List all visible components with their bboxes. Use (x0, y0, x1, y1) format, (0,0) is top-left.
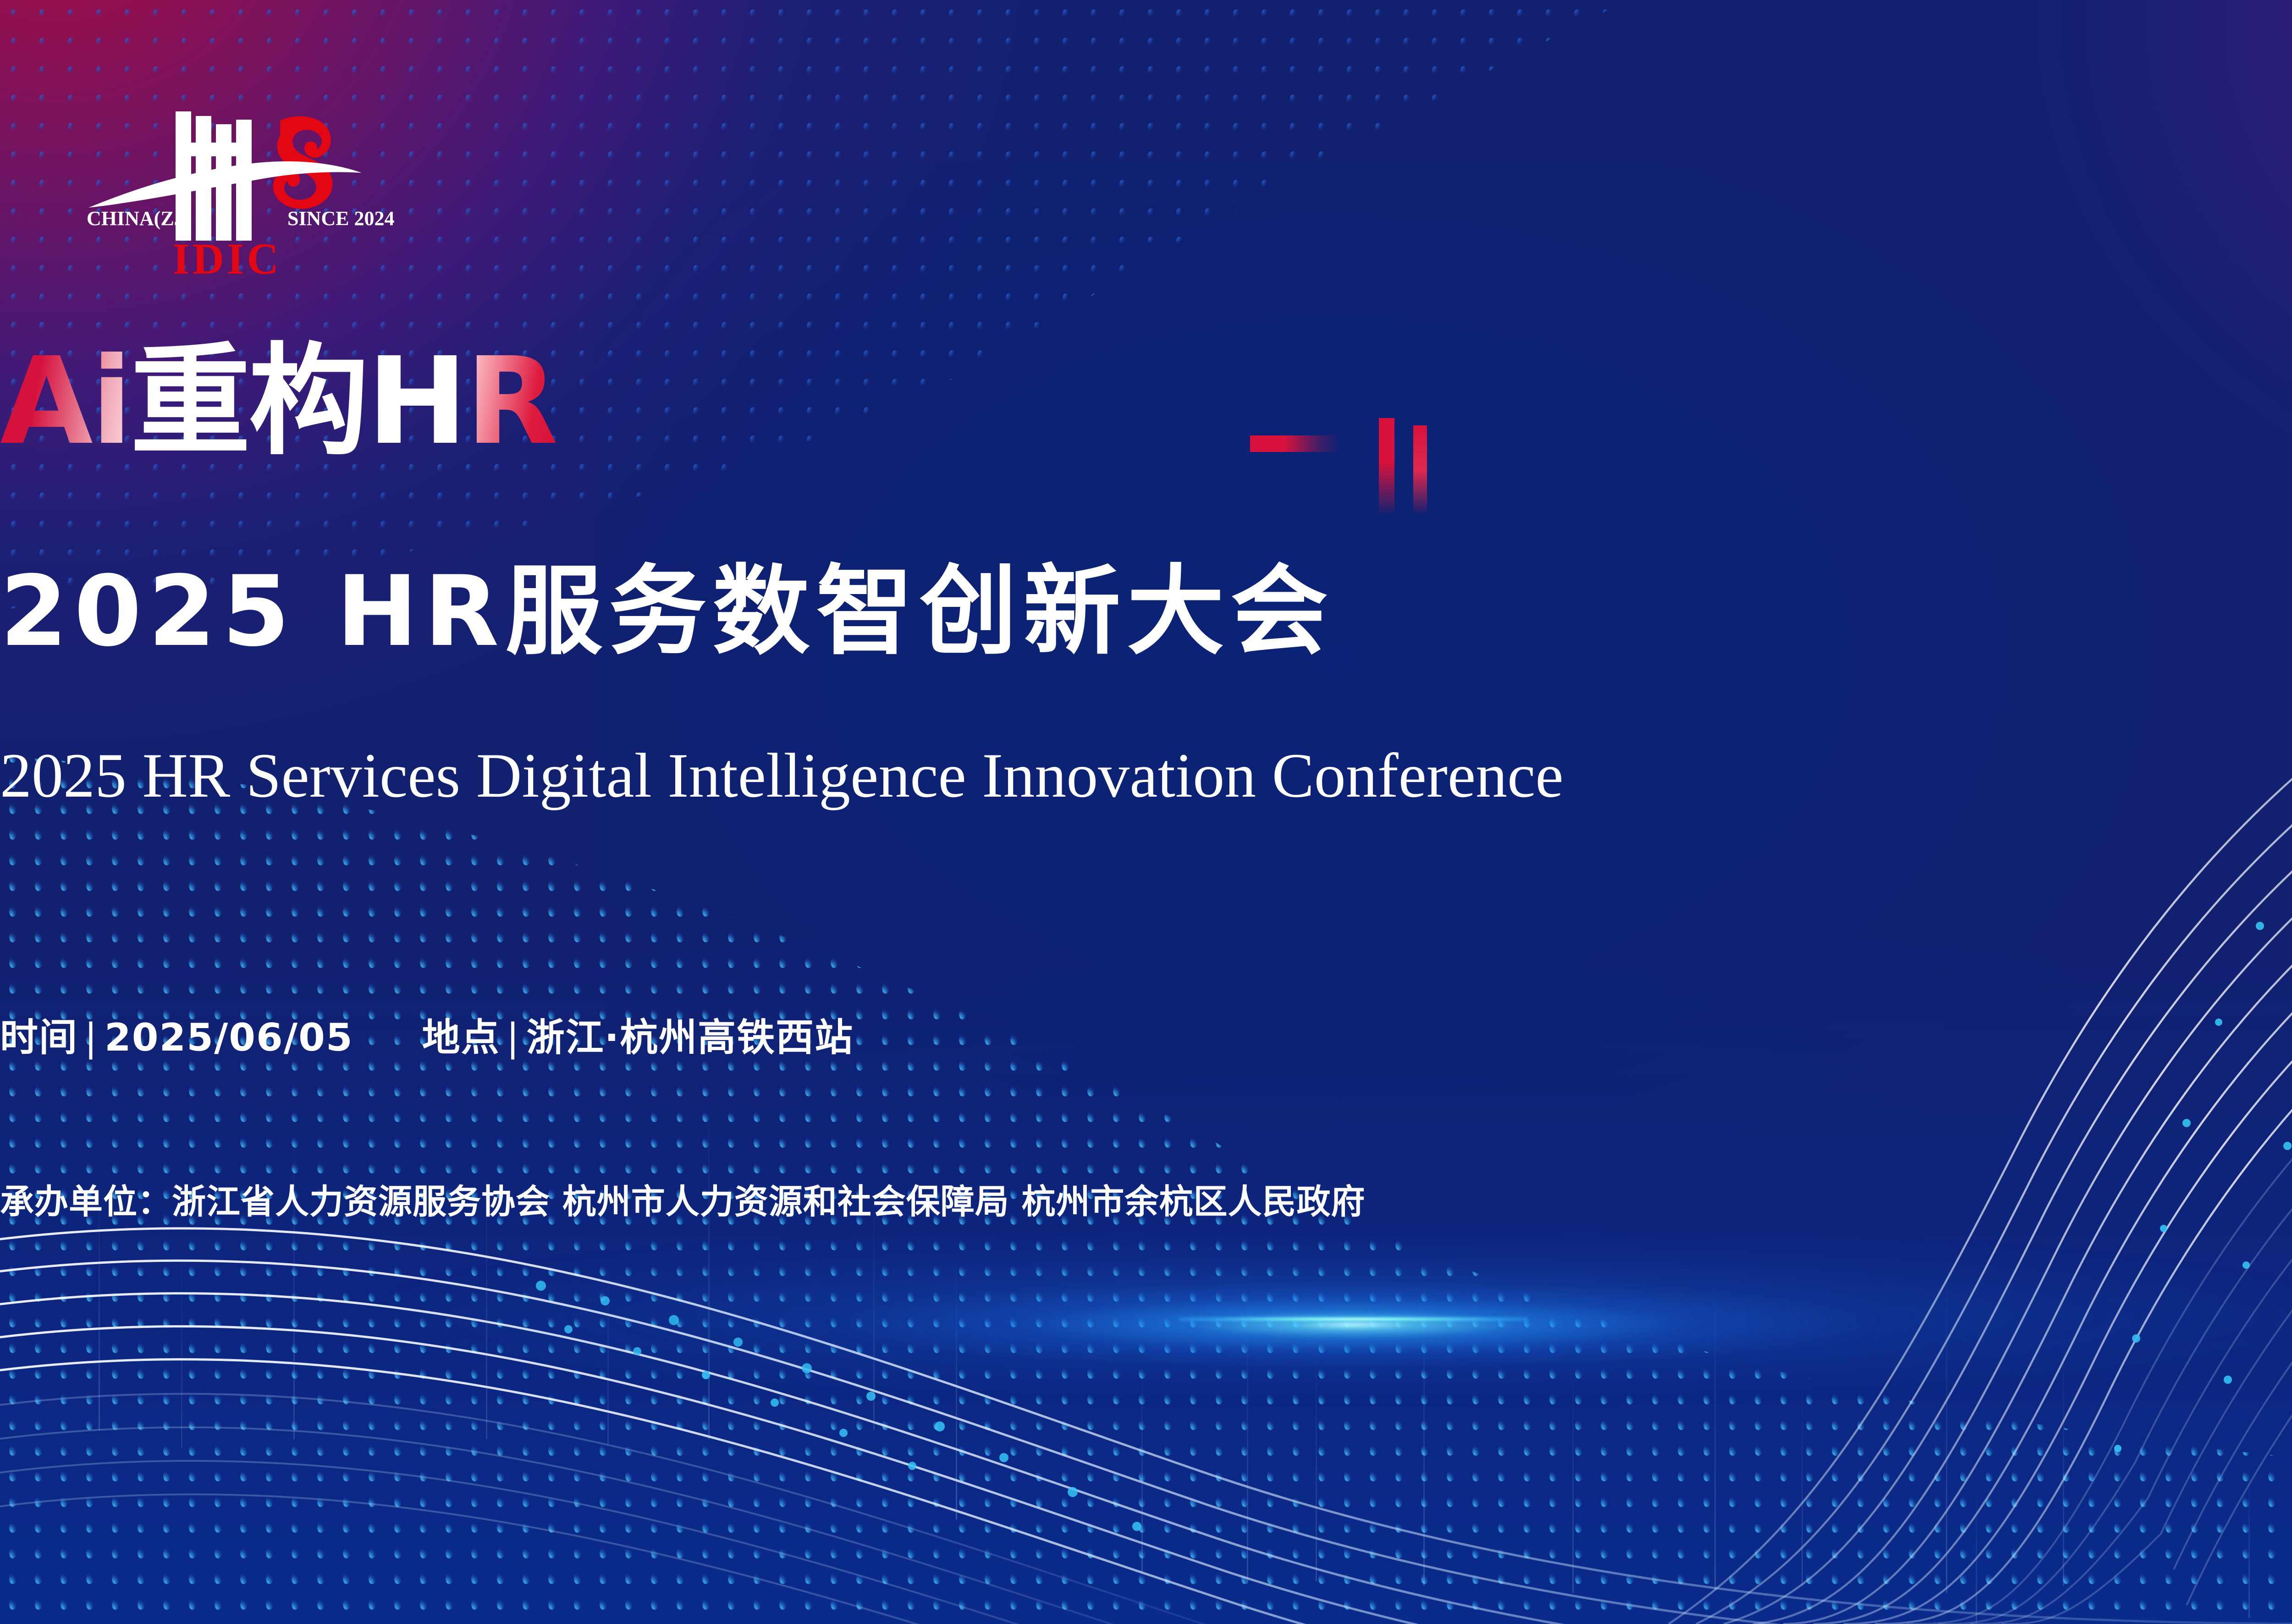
headline-red-accent-stroke-2 (1379, 418, 1394, 515)
headline-ai: Ai (0, 331, 131, 471)
place-label: 地点 (422, 1015, 500, 1060)
conference-poster: CHINA(ZJ) SINCE 2024 IDIC Ai重构HR 2025 HR… (0, 0, 2292, 1624)
hrs-idic-logo: CHINA(ZJ) SINCE 2024 IDIC (80, 99, 374, 282)
headline-r: R (466, 331, 556, 471)
event-meta-row: 时间|2025/06/05地点|浙江·杭州高铁西站 (0, 1007, 2292, 1062)
time-separator: | (78, 1015, 105, 1060)
logo-right-label: SINCE 2024 (287, 207, 395, 230)
headline-red-accent-stroke-3 (1413, 425, 1427, 515)
headline-h: H (367, 331, 466, 471)
page-title-chinese: 2025 HR服务数智创新大会 (0, 557, 2292, 666)
headline-text: Ai重构HR (0, 341, 556, 462)
place-value: 浙江·杭州高铁西站 (527, 1015, 854, 1060)
page-title-english: 2025 HR Services Digital Intelligence In… (0, 739, 2292, 812)
horizon-glow-core (1179, 1316, 1528, 1322)
time-label: 时间 (0, 1015, 78, 1060)
place-separator: | (500, 1015, 527, 1060)
logo-bottom-label: IDIC (172, 234, 281, 283)
logo-left-label: CHINA(ZJ) (87, 207, 191, 230)
horizon-glow (826, 1281, 1881, 1368)
headline-block: Ai重构HR (0, 341, 2292, 479)
headline-chinese: 重构 (131, 331, 367, 471)
headline-red-accent-stroke (1250, 435, 1339, 452)
organizers-line: 承办单位：浙江省人力资源服务协会 杭州市人力资源和社会保障局 杭州市余杭区人民政… (0, 1174, 2292, 1223)
time-value: 2025/06/05 (105, 1015, 353, 1060)
